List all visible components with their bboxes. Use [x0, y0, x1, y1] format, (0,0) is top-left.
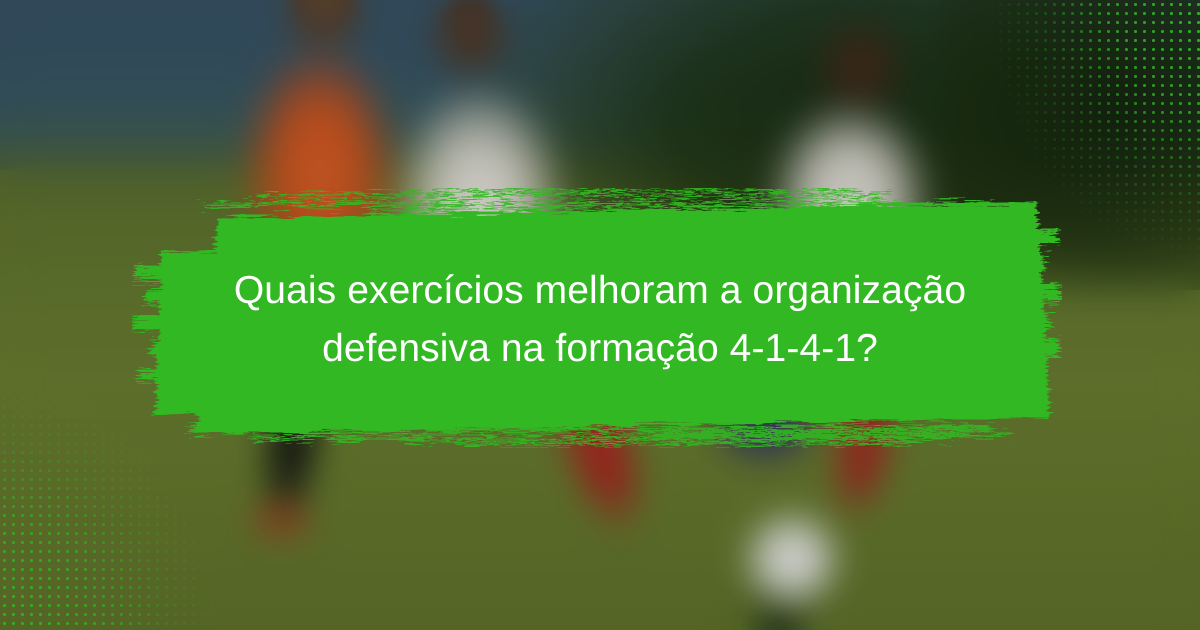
page-title: Quais exercícios melhoram a organização … [200, 262, 1000, 378]
brush-bottom-streaks [192, 426, 1012, 445]
social-share-card: Quais exercícios melhoram a organização … [0, 0, 1200, 630]
